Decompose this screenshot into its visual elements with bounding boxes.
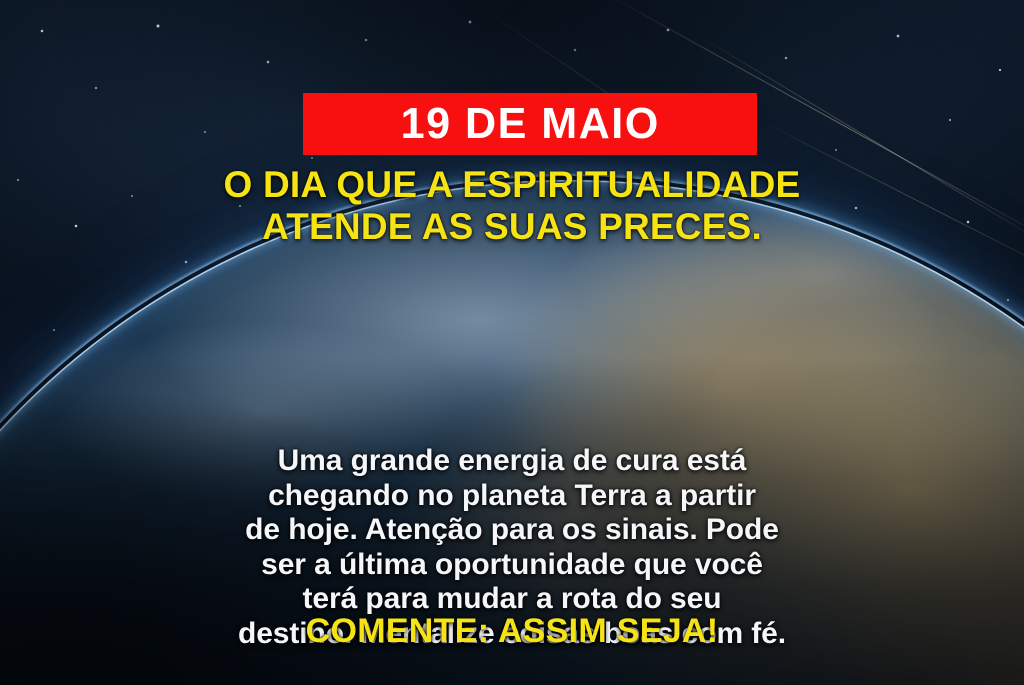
headline-line-1: O DIA QUE A ESPIRITUALIDADE [0,164,1024,206]
date-banner-text: 19 DE MAIO [400,102,659,146]
body-line-2: chegando no planeta Terra a partir [50,479,974,514]
content-layer: 19 DE MAIO O DIA QUE A ESPIRITUALIDADE A… [0,0,1024,685]
call-to-action-text: COMENTE: ASSIM SEJA! [0,611,1024,651]
body-line-4: ser a última oportunidade que você [50,548,974,583]
social-post-image: 19 DE MAIO O DIA QUE A ESPIRITUALIDADE A… [0,0,1024,685]
headline-line-2: ATENDE AS SUAS PRECES. [0,206,1024,248]
body-line-3: de hoje. Atenção para os sinais. Pode [50,513,974,548]
body-line-1: Uma grande energia de cura está [50,444,974,479]
headline: O DIA QUE A ESPIRITUALIDADE ATENDE AS SU… [0,164,1024,248]
date-banner: 19 DE MAIO [303,93,757,155]
